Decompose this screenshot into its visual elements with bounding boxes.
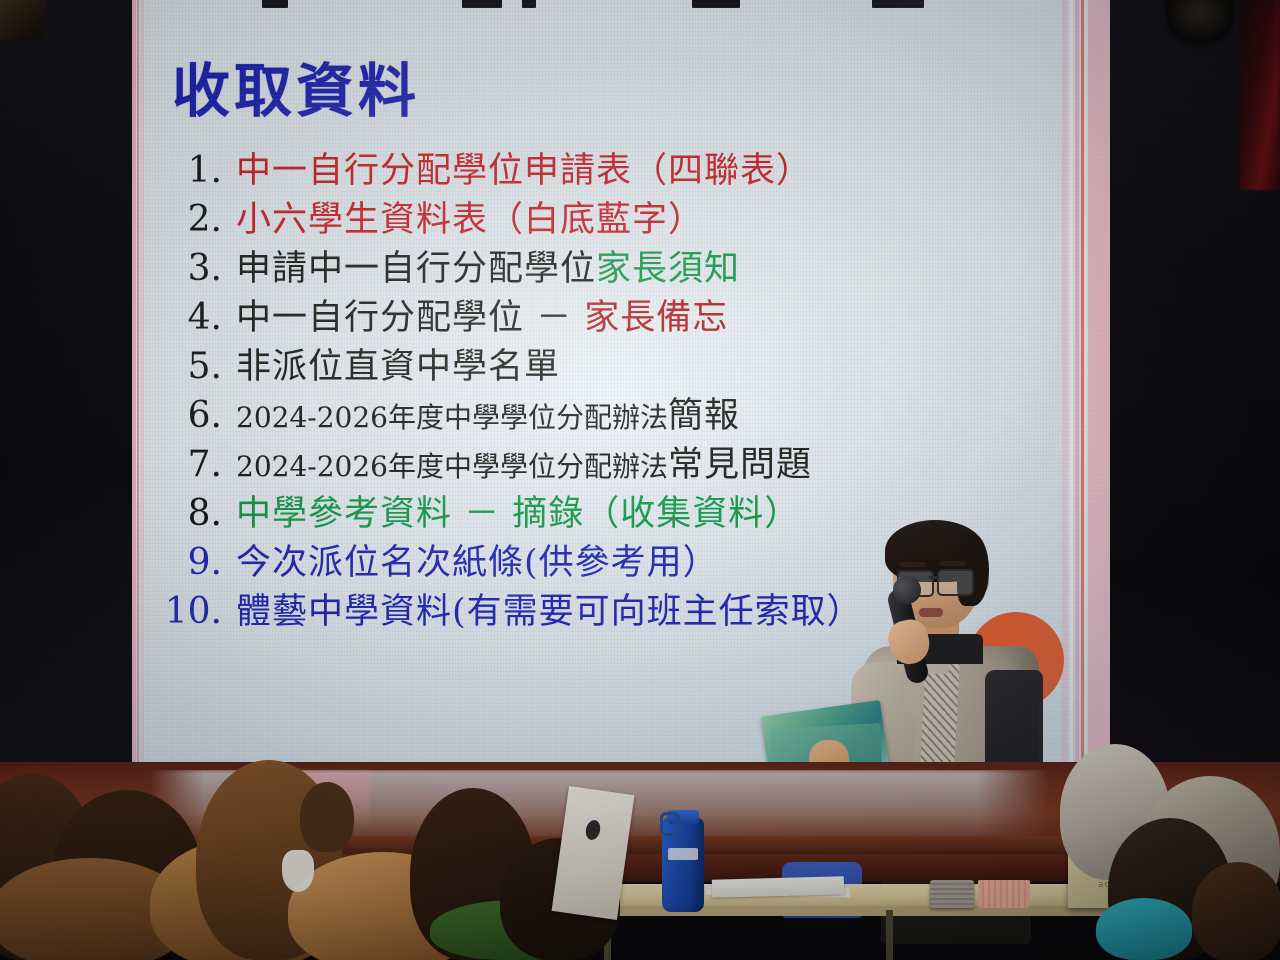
stage-curtain <box>1240 0 1280 190</box>
presenter-eyeglass-bridge <box>929 576 939 579</box>
slide-border-right-3 <box>1075 0 1079 772</box>
slide-list-item-text-span: 家長須知 <box>596 249 740 289</box>
cutoff-glyph-5 <box>872 0 924 8</box>
slide-border-right-4 <box>1081 0 1084 772</box>
slide-list-item-number: 4. <box>152 297 236 338</box>
lecture-hall-photo: 收取資料 1.中一自行分配學位申請表（四聯表）2.小六學生資料表（白底藍字）3.… <box>0 0 1280 960</box>
presenter-eyeglass-right <box>937 569 974 596</box>
presenter-eyebrow-right <box>939 561 967 566</box>
table-papers <box>712 876 844 897</box>
audience-face-mask <box>282 850 314 892</box>
slide-list-item-text-span: 中一自行分配學位 － <box>236 298 584 338</box>
slide-list-item-number: 2. <box>152 199 236 240</box>
cutoff-glyph-1 <box>262 0 288 8</box>
slide-border-right-6 <box>1088 0 1110 772</box>
slide-list-item-text-span: 中一自行分配學位申請表（四聯表） <box>236 151 812 191</box>
slide-list-item-number: 8. <box>152 493 236 534</box>
table-leg-mid <box>886 910 893 960</box>
pink-basket <box>978 880 1030 908</box>
slide-list-item-number: 3. <box>152 248 236 289</box>
slide-list-item: 2.小六學生資料表（白底藍字） <box>152 191 1052 240</box>
audience-cyan-jacket <box>1096 898 1192 960</box>
slide-list-item-text: 申請中一自行分配學位家長須知 <box>236 240 740 291</box>
slide-border-left-3 <box>141 0 144 772</box>
slide-list-item: 5.非派位直資中學名單 <box>152 338 1052 387</box>
slide-list-item-number: 5. <box>152 346 236 387</box>
slide-border-right-5 <box>1085 0 1087 772</box>
slide-list-item: 7.2024-2026年度中學學位分配辦法常見問題 <box>152 436 1052 485</box>
slide-list-item-text: 2024-2026年度中學學位分配辦法常見問題 <box>236 436 812 487</box>
slide-list-item-number: 1. <box>152 150 236 191</box>
slide-list-item-number: 6. <box>152 395 236 436</box>
slide-list-item-text-span: 常見問題 <box>668 445 812 485</box>
slide-list-item-text: 小六學生資料表（白底藍字） <box>236 191 704 242</box>
presenter-eyebrow-left <box>899 562 927 567</box>
slide-list-item: 1.中一自行分配學位申請表（四聯表） <box>152 142 1052 191</box>
slide-list-item-text-span: 體藝中學資料(有需要可向班主任索取） <box>236 592 863 632</box>
slide-list-item-text: 今次派位名次紙條(供參考用） <box>236 534 719 585</box>
presenter-mouth <box>919 608 943 617</box>
slide-list-item-text-span: 今次派位名次紙條(供參考用） <box>236 543 719 583</box>
slide-list-item: 4.中一自行分配學位 － 家長備忘 <box>152 289 1052 338</box>
water-bottle-label <box>668 848 698 860</box>
slide-list-item-text-span: 小六學生資料表（白底藍字） <box>236 200 704 240</box>
slide-list-item-text: 中學參考資料 － 摘錄（收集資料） <box>236 485 800 536</box>
ceiling-speaker-icon <box>1168 0 1232 40</box>
slide-list-item-text-span: 家長備忘 <box>584 298 728 338</box>
slide-list-item-number: 10. <box>152 591 236 632</box>
cutoff-glyph-3 <box>522 0 536 8</box>
slide-list-item-text: 2024-2026年度中學學位分配辦法簡報 <box>236 387 740 438</box>
hall-wall-left <box>0 0 132 782</box>
slide-list-item-text: 體藝中學資料(有需要可向班主任索取） <box>236 583 863 634</box>
slide-list-item-text: 非派位直資中學名單 <box>236 338 560 389</box>
audience-hair-tie <box>300 782 354 852</box>
cutoff-glyph-2 <box>462 0 502 8</box>
slide-list-item-text-span: 申請中一自行分配學位 <box>236 249 596 289</box>
slide-list-item: 6.2024-2026年度中學學位分配辦法簡報 <box>152 387 1052 436</box>
slide-list-item: 3.申請中一自行分配學位家長須知 <box>152 240 1052 289</box>
slide-list-item-text-span: 非派位直資中學名單 <box>236 347 560 387</box>
slide-list-item-text: 中一自行分配學位 － 家長備忘 <box>236 289 728 340</box>
slide-list-item-text-span: 簡報 <box>668 396 740 436</box>
cutoff-glyph-4 <box>692 0 740 8</box>
slide-list-item-text-span: 2024-2026年度中學學位分配辦法 <box>236 450 668 483</box>
slide-list-item-text-span: 中學參考資料 － 摘錄（收集資料） <box>236 494 800 534</box>
slide-border-left-1 <box>132 0 136 772</box>
slide-list-item-number: 7. <box>152 444 236 485</box>
upper-left-fixture <box>0 0 46 40</box>
slide-border-left-2 <box>137 0 139 772</box>
audience-head-10 <box>1192 862 1280 960</box>
portable-speaker <box>930 880 974 908</box>
slide-list-item-text: 中一自行分配學位申請表（四聯表） <box>236 142 812 193</box>
slide-title: 收取資料 <box>172 62 420 120</box>
slide-list-item-number: 9. <box>152 542 236 583</box>
slide-list-item-text-span: 2024-2026年度中學學位分配辦法 <box>236 401 668 434</box>
water-bottle-loop <box>660 812 680 836</box>
